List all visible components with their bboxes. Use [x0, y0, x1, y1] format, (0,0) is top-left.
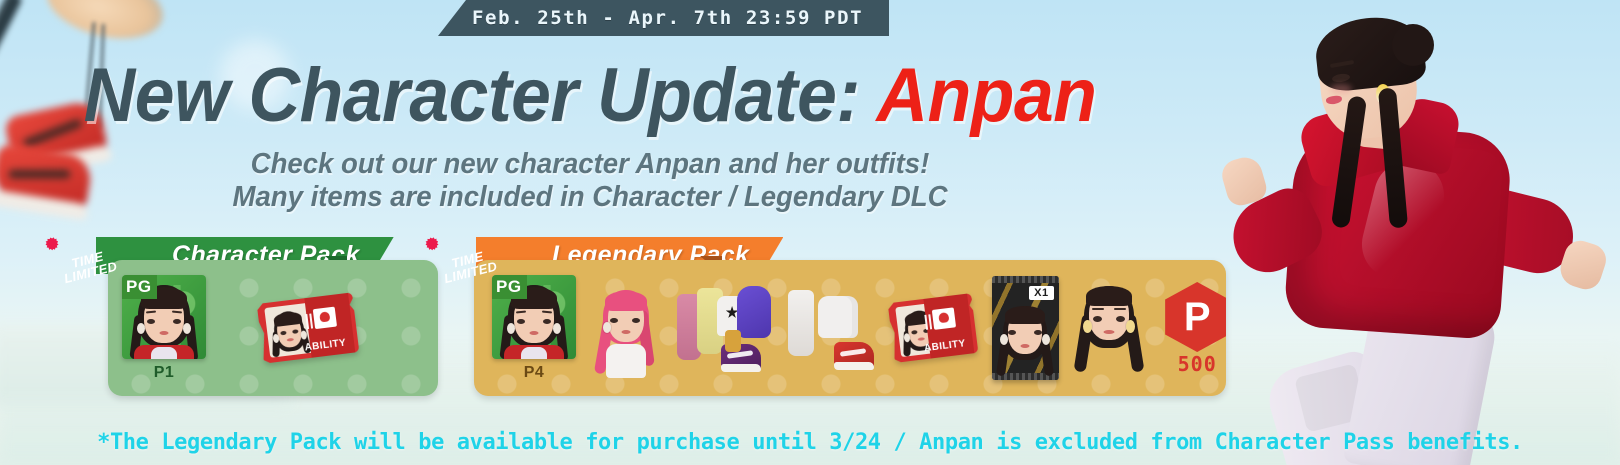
ticket-label: ABILITY: [304, 338, 347, 354]
anpan-avatar-icon: [1070, 284, 1148, 376]
starburst-icon: [44, 236, 60, 252]
subtitle: Check out our new character Anpan and he…: [30, 148, 1151, 214]
portrait-label: P4: [492, 364, 576, 382]
promo-date-ribbon: Feb. 25th - Apr. 7th 23:59 PDT: [438, 0, 889, 36]
legendary-pack-card[interactable]: PG: [474, 260, 1226, 396]
ticket-label: ABILITY: [924, 338, 967, 354]
anpan-face-icon: [992, 304, 1059, 378]
item-ability-ticket[interactable]: ABILITY: [257, 292, 360, 363]
ability-portrait-icon: [933, 307, 957, 330]
item-character-portrait[interactable]: PG: [122, 275, 206, 382]
disclaimer-text: *The Legendary Pack will be available fo…: [0, 430, 1620, 455]
street-lamp-head-icon: [40, 0, 169, 49]
pack-quantity-badge: X1: [1029, 286, 1053, 300]
page-title: New Character Update: Anpan: [35, 52, 1144, 139]
character-pack-card[interactable]: PG: [108, 260, 438, 396]
starburst-icon: [424, 236, 440, 252]
headline-accent-text: Anpan: [877, 53, 1097, 138]
red-sneaker-icon: [834, 342, 874, 370]
item-avatar[interactable]: [1075, 276, 1144, 380]
hero-character-anpan: [1180, 0, 1620, 465]
white-sweater-icon: [818, 296, 858, 338]
item-character-skin[interactable]: [592, 276, 661, 380]
ability-portrait-icon: [313, 307, 337, 330]
pack-serration: [992, 276, 1059, 283]
subtitle-line-2: Many items are included in Character / L…: [30, 181, 1151, 214]
item-ability-ticket[interactable]: ABILITY: [888, 293, 979, 363]
ticket-stub: ABILITY: [924, 294, 975, 359]
portrait-label: P1: [122, 364, 206, 382]
portrait-frame: PG: [122, 275, 206, 359]
purple-puffer-icon: [737, 286, 771, 338]
ticket-stub: ABILITY: [304, 293, 355, 358]
item-card-pack[interactable]: X1: [992, 276, 1059, 380]
headline-main-text: New Character Update:: [84, 53, 877, 138]
promo-banner: Feb. 25th - Apr. 7th 23:59 PDT New Chara…: [0, 0, 1620, 465]
subtitle-line-1: Check out our new character Anpan and he…: [30, 148, 1151, 181]
pink-hair-face-icon: [587, 288, 665, 378]
item-outfit-bundle[interactable]: [784, 278, 875, 378]
item-outfit-bundle[interactable]: [677, 278, 768, 378]
white-pants-icon: [788, 290, 814, 356]
sneaker-tongue-icon: [725, 330, 741, 352]
